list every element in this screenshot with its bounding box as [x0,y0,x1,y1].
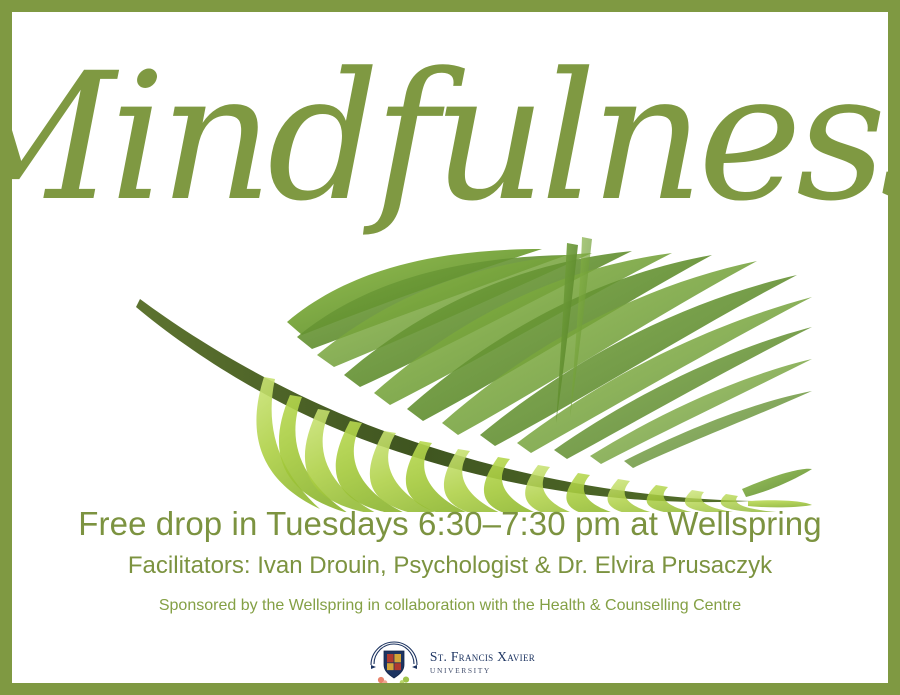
facilitators-line: Facilitators: Ivan Drouin, Psychologist … [12,550,888,582]
palm-frond-graphic [112,227,812,512]
logo-university-name: St. Francis Xavier [430,650,535,664]
logo-inner: St. Francis Xavier UNIVERSITY [365,634,535,683]
university-logo: St. Francis Xavier UNIVERSITY [12,634,888,683]
title-script-graphic: Mindfulness [12,18,888,243]
poster-canvas: Mindfulness [12,12,888,683]
logo-wordmark: St. Francis Xavier UNIVERSITY [430,650,535,674]
poster-root: Mindfulness [0,0,900,695]
event-headline: Free drop in Tuesdays 6:30–7:30 pm at We… [12,504,888,544]
university-crest-icon [365,634,423,683]
poster-title-area: Mindfulness [12,18,888,243]
page-title: Mindfulness [12,35,888,240]
poster-text-block: Free drop in Tuesdays 6:30–7:30 pm at We… [12,504,888,617]
palm-frond-illustration [112,227,812,512]
frond-tip [742,469,812,508]
sponsor-line: Sponsored by the Wellspring in collabora… [12,595,888,617]
logo-university-subtitle: UNIVERSITY [430,667,535,675]
